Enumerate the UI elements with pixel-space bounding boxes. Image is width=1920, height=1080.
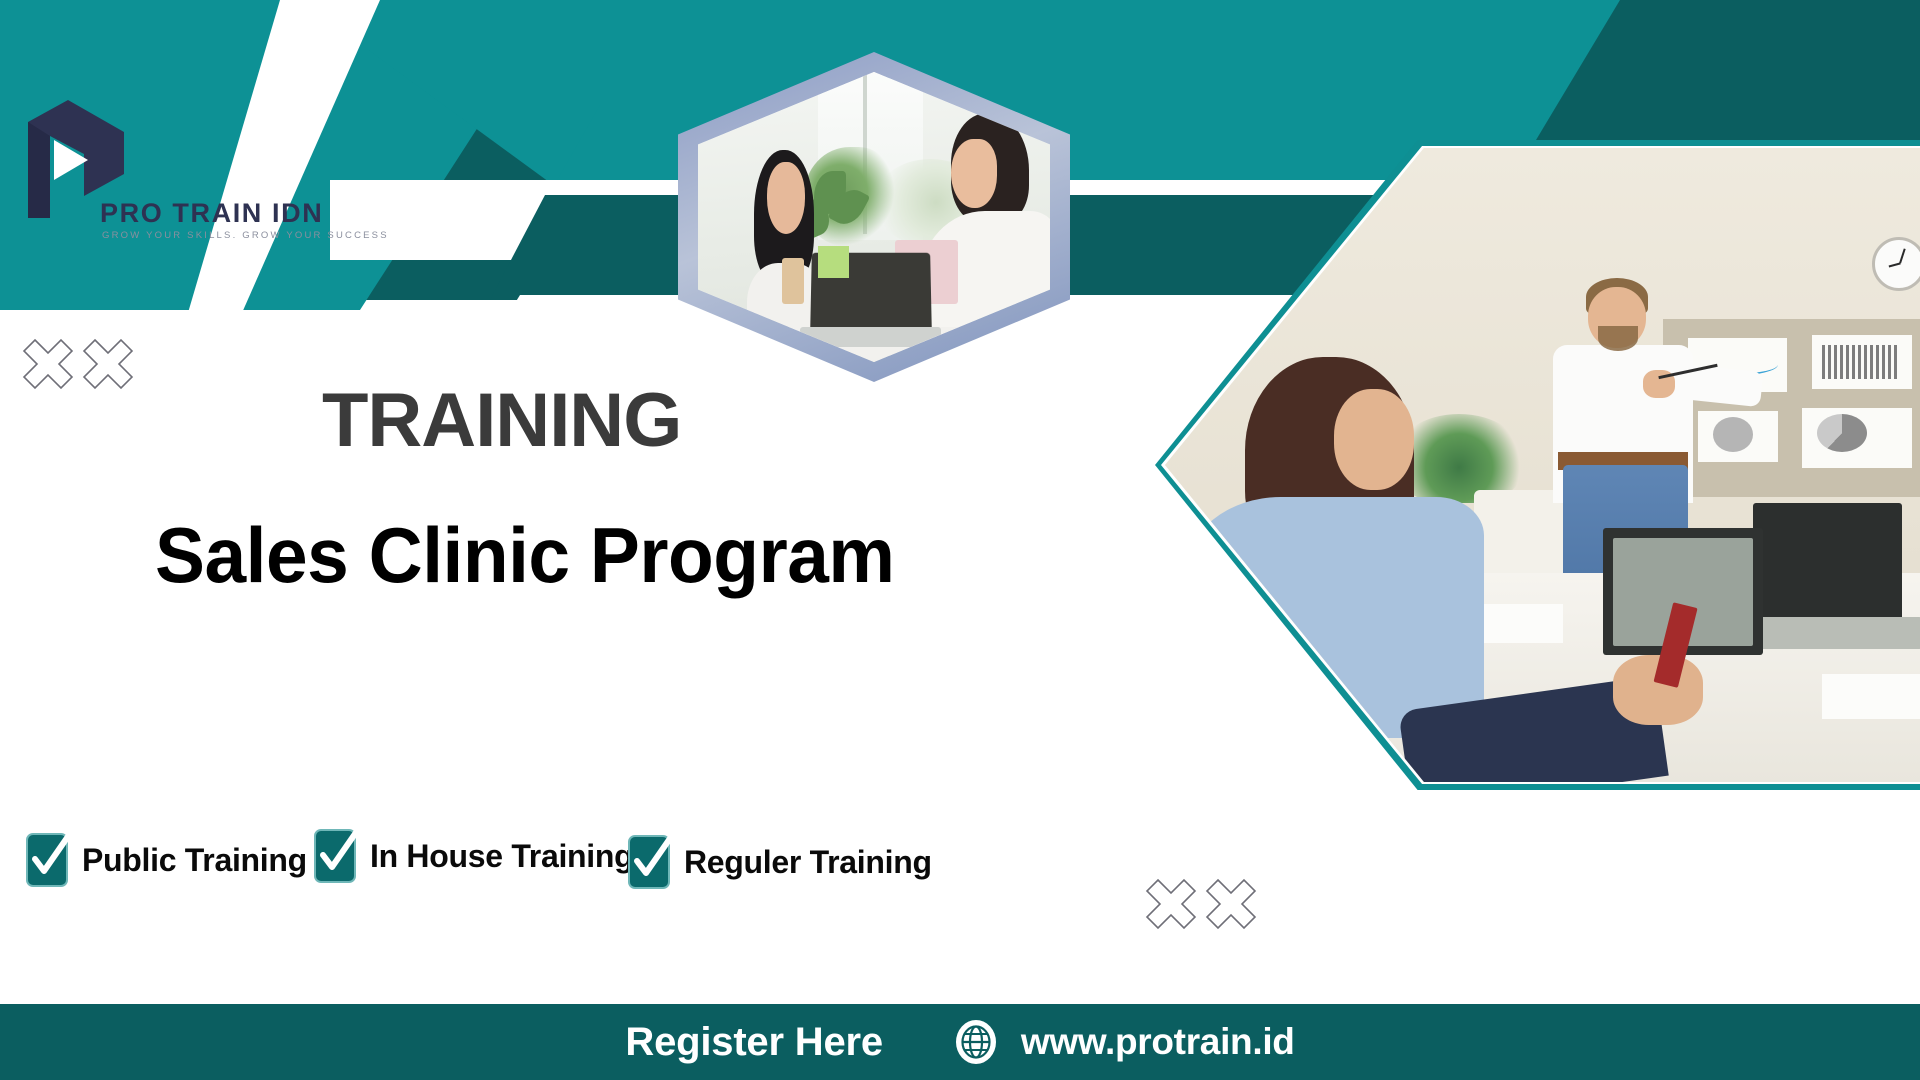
checkbox-checked-icon[interactable] xyxy=(26,833,68,887)
website-url[interactable]: www.protrain.id xyxy=(1021,1021,1295,1063)
hex-photo-women-laptops xyxy=(678,52,1070,382)
x-cross-outline-icon xyxy=(22,338,74,390)
x-cross-outline-icon xyxy=(1145,878,1197,930)
brand-logo: PRO TRAIN IDN GROW YOUR SKILLS. GROW YOU… xyxy=(28,100,348,218)
page-title: Sales Clinic Program xyxy=(155,516,895,594)
training-type-in-house[interactable]: In House Training xyxy=(314,829,633,883)
training-type-reguler[interactable]: Reguler Training xyxy=(628,835,932,889)
footer-bar: Register Here www.protrain.id xyxy=(0,1004,1920,1080)
training-type-label: In House Training xyxy=(370,838,633,875)
x-cross-outline-icon xyxy=(1205,878,1257,930)
photo-training-room xyxy=(1165,148,1920,782)
x-cross-outline-icon xyxy=(82,338,134,390)
globe-icon xyxy=(953,1019,999,1065)
brand-tagline: GROW YOUR SKILLS. GROW YOUR SUCCESS xyxy=(102,230,389,241)
training-type-public[interactable]: Public Training xyxy=(26,833,307,887)
website-link[interactable]: www.protrain.id xyxy=(953,1019,1295,1065)
decor-x-group-mid xyxy=(1145,878,1257,930)
promo-poster: PRO TRAIN IDN GROW YOUR SKILLS. GROW YOU… xyxy=(0,0,1920,1080)
hex-photo-training-room xyxy=(1155,140,1920,790)
training-type-label: Reguler Training xyxy=(684,844,932,881)
register-cta[interactable]: Register Here xyxy=(625,1020,883,1065)
brand-name: PRO TRAIN IDN xyxy=(100,198,323,229)
kicker-title: TRAINING xyxy=(322,383,681,459)
training-type-label: Public Training xyxy=(82,842,307,879)
checkbox-checked-icon[interactable] xyxy=(314,829,356,883)
decor-x-group-left xyxy=(22,338,134,390)
checkbox-checked-icon[interactable] xyxy=(628,835,670,889)
